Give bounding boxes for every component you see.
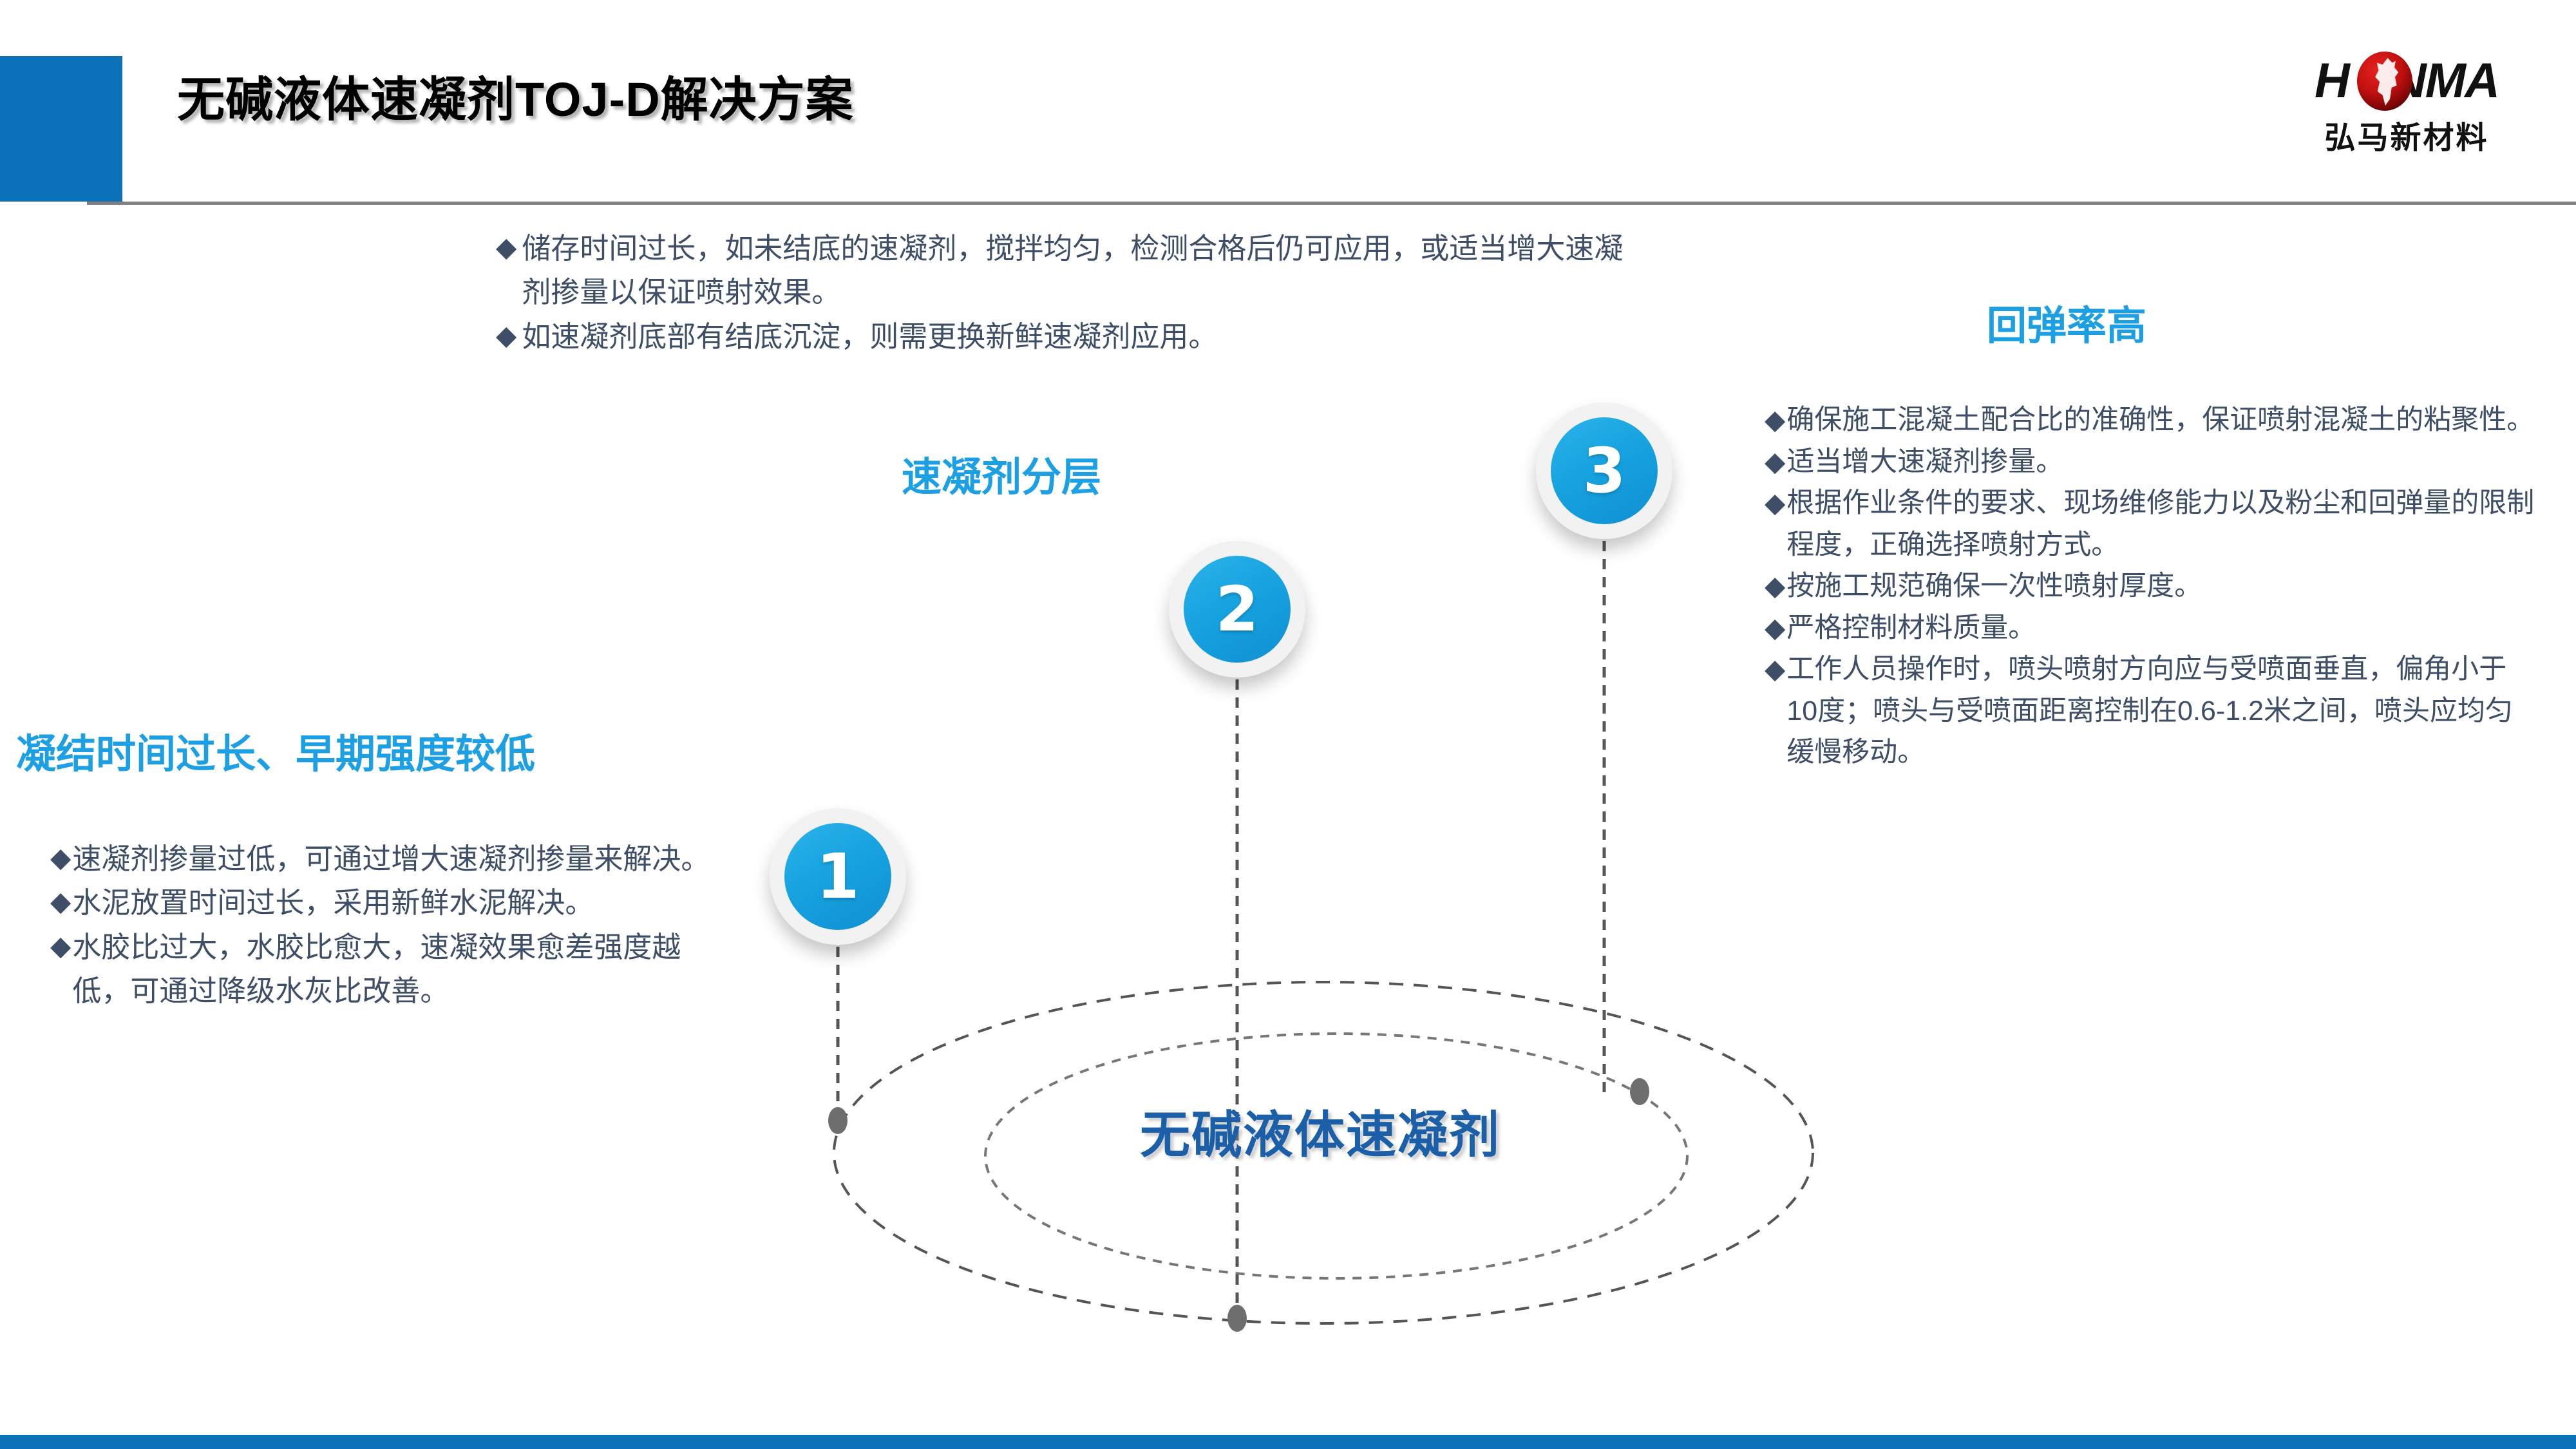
bullet-diamond-icon: ◆ xyxy=(1765,441,1785,483)
bullet-diamond-icon: ◆ xyxy=(1765,607,1785,649)
list-item: ◆ 确保施工混凝土配合比的准确性，保证喷射混凝土的粘聚性。 xyxy=(1765,399,2537,441)
list-item-text: 根据作业条件的要求、现场维修能力以及粉尘和回弹量的限制程度，正确选择喷射方式。 xyxy=(1786,482,2537,565)
bullet-diamond-icon: ◆ xyxy=(50,837,71,881)
left-section-list: ◆ 速凝剂掺量过低，可通过增大速凝剂掺量来解决。 ◆ 水泥放置时间过长，采用新鲜… xyxy=(50,837,720,1014)
top-note-bullet-text: 储存时间过长，如未结底的速凝剂，搅拌均匀，检测合格后仍可应用，或适当增大速凝剂掺… xyxy=(518,227,1629,315)
bullet-diamond-icon: ◆ xyxy=(496,315,516,359)
bullet-diamond-icon: ◆ xyxy=(1765,399,1785,441)
right-section-list: ◆ 确保施工混凝土配合比的准确性，保证喷射混凝土的粘聚性。 ◆ 适当增大速凝剂掺… xyxy=(1765,399,2537,773)
step-node-3-number: 3 xyxy=(1583,440,1626,502)
list-item-text: 水泥放置时间过长，采用新鲜水泥解决。 xyxy=(72,881,594,925)
bullet-diamond-icon: ◆ xyxy=(1765,649,1785,773)
top-note-bullet: ◆ 如速凝剂底部有结底沉淀，则需更换新鲜速凝剂应用。 xyxy=(496,315,1629,359)
list-item-text: 水胶比过大，水胶比愈大，速凝效果愈差强度越低，可通过降级水灰比改善。 xyxy=(72,925,720,1014)
anchor-dot-3 xyxy=(1630,1078,1649,1105)
step-node-2[interactable]: 2 xyxy=(1169,541,1305,677)
footer-accent-bar xyxy=(0,1435,2576,1449)
step-node-2-number: 2 xyxy=(1216,578,1259,640)
list-item-text: 速凝剂掺量过低，可通过增大速凝剂掺量来解决。 xyxy=(72,837,710,881)
list-item-text: 工作人员操作时，喷头喷射方向应与受喷面垂直，偏角小于10度；喷头与受喷面距离控制… xyxy=(1786,649,2537,773)
bullet-diamond-icon: ◆ xyxy=(1765,482,1785,565)
list-item: ◆ 适当增大速凝剂掺量。 xyxy=(1765,441,2537,483)
step-node-3[interactable]: 3 xyxy=(1536,402,1672,539)
step-node-1[interactable]: 1 xyxy=(770,808,906,945)
center-section-heading: 速凝剂分层 xyxy=(902,444,1101,502)
list-item: ◆ 速凝剂掺量过低，可通过增大速凝剂掺量来解决。 xyxy=(50,837,720,881)
list-item: ◆ 工作人员操作时，喷头喷射方向应与受喷面垂直，偏角小于10度；喷头与受喷面距离… xyxy=(1765,649,2537,773)
anchor-dot-1 xyxy=(828,1107,848,1134)
step-node-2-disc: 2 xyxy=(1184,556,1291,663)
list-item: ◆ 按施工规范确保一次性喷射厚度。 xyxy=(1765,565,2537,607)
list-item: ◆ 根据作业条件的要求、现场维修能力以及粉尘和回弹量的限制程度，正确选择喷射方式… xyxy=(1765,482,2537,565)
anchor-dot-2 xyxy=(1227,1305,1247,1332)
bullet-diamond-icon: ◆ xyxy=(496,227,516,315)
list-item-text: 按施工规范确保一次性喷射厚度。 xyxy=(1786,565,2202,607)
top-note-block: ◆ 储存时间过长，如未结底的速凝剂，搅拌均匀，检测合格后仍可应用，或适当增大速凝… xyxy=(496,227,1629,359)
list-item-text: 严格控制材料质量。 xyxy=(1786,607,2036,649)
bullet-diamond-icon: ◆ xyxy=(1765,565,1785,607)
top-note-bullet-text: 如速凝剂底部有结底沉淀，则需更换新鲜速凝剂应用。 xyxy=(518,315,1217,359)
bullet-diamond-icon: ◆ xyxy=(50,925,71,1014)
center-label: 无碱液体速凝剂 xyxy=(1063,1095,1578,1167)
step-node-1-disc: 1 xyxy=(784,823,891,930)
right-section-heading: 回弹率高 xyxy=(1987,293,2146,351)
list-item: ◆ 水泥放置时间过长，采用新鲜水泥解决。 xyxy=(50,881,720,925)
step-node-1-number: 1 xyxy=(817,846,860,907)
list-item: ◆ 水胶比过大，水胶比愈大，速凝效果愈差强度越低，可通过降级水灰比改善。 xyxy=(50,925,720,1014)
list-item: ◆ 严格控制材料质量。 xyxy=(1765,607,2537,649)
bullet-diamond-icon: ◆ xyxy=(50,881,71,925)
list-item-text: 确保施工混凝土配合比的准确性，保证喷射混凝土的粘聚性。 xyxy=(1786,399,2534,441)
top-note-bullet: ◆ 储存时间过长，如未结底的速凝剂，搅拌均匀，检测合格后仍可应用，或适当增大速凝… xyxy=(496,227,1629,315)
list-item-text: 适当增大速凝剂掺量。 xyxy=(1786,441,2063,483)
left-section-heading: 凝结时间过长、早期强度较低 xyxy=(16,721,535,779)
step-node-3-disc: 3 xyxy=(1551,417,1658,524)
